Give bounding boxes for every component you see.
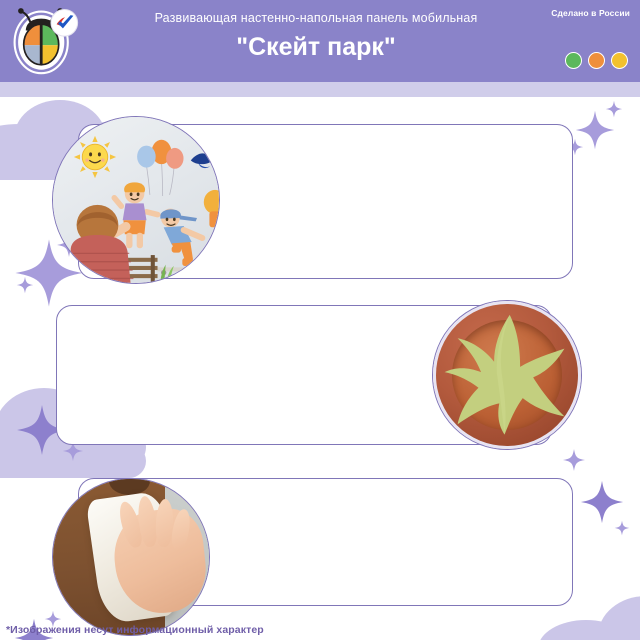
- sparkle-left-upper-tiny: [16, 276, 34, 294]
- sparkle-right-mid-tiny: [614, 520, 630, 536]
- ladybug-logo: [9, 6, 79, 76]
- made-in-russia-label: Сделано в России: [551, 8, 630, 18]
- photo-children-wall-panel: [52, 116, 220, 284]
- sparkle-top-right-small: [605, 100, 623, 118]
- header-subtitle: Развивающая настенно-напольная панель мо…: [96, 10, 536, 26]
- sparkle-right-mid: [580, 480, 624, 524]
- color-dots-group: [565, 52, 628, 69]
- photo-hand-cleaning-cloth: [52, 478, 210, 636]
- sparkle-right-mid-small: [562, 448, 586, 472]
- dot-yellow: [611, 52, 628, 69]
- dot-green: [565, 52, 582, 69]
- header-subband: [0, 82, 640, 97]
- header-title: "Скейт парк": [96, 30, 536, 64]
- dot-orange: [588, 52, 605, 69]
- disclaimer-note: *Изображения несут информационный характ…: [6, 624, 264, 636]
- poster-root: Развивающая настенно-напольная панель мо…: [0, 0, 640, 640]
- photo-palm-leaf-disc: [432, 300, 582, 450]
- header-title-block: Развивающая настенно-напольная панель мо…: [96, 10, 536, 64]
